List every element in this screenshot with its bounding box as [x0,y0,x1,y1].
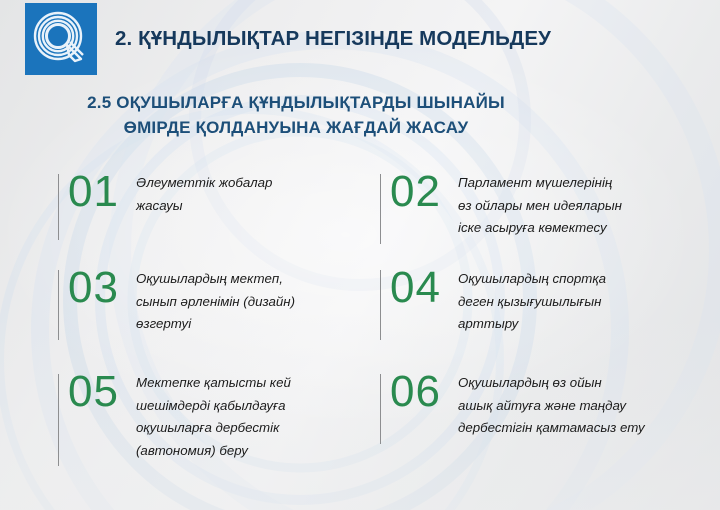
item-text: Әлеуметтік жобалар жасауы [136,168,368,217]
item-text-line: сынып әрленімін (дизайн) [136,291,368,314]
list-item: 02 Парламент мүшелерінің өз ойлары мен и… [380,168,702,244]
item-text: Мектепке қатысты кей шешімдерді қабылдау… [136,368,368,462]
item-text-line: іске асыруға көмектесу [458,217,702,240]
item-text-line: Әлеуметтік жобалар [136,172,368,195]
item-number: 06 [390,370,458,414]
item-divider [58,270,59,340]
slide-header: 2. ҚҰНДЫЛЫҚТАР НЕГІЗІНДЕ МОДЕЛЬДЕУ [0,0,720,80]
item-text-line: өз ойлары мен идеяларын [458,195,702,218]
item-divider [380,374,381,444]
list-item: 01 Әлеуметтік жобалар жасауы [58,168,368,240]
item-divider [380,270,381,340]
item-text-line: жасауы [136,195,368,218]
item-text-line: Оқушылардың спортқа [458,268,702,291]
list-item: 05 Мектепке қатысты кей шешімдерді қабыл… [58,368,368,466]
subtitle-line-1: 2.5 ОҚУШЫЛАРҒА ҚҰНДЫЛЫҚТАРДЫ ШЫНАЙЫ [18,90,574,115]
magnifier-q-logo-icon [25,3,97,75]
item-text: Оқушылардың өз ойын ашық айтуға және таң… [458,368,702,440]
item-number: 05 [68,370,136,414]
item-text-line: Мектепке қатысты кей [136,372,368,395]
item-text-line: Оқушылардың мектеп, [136,268,368,291]
item-divider [380,174,381,244]
item-text-line: дербестігін қамтамасыз ету [458,417,702,440]
list-item: 06 Оқушылардың өз ойын ашық айтуға және … [380,368,702,444]
item-number: 04 [390,266,458,310]
item-number: 02 [390,170,458,214]
item-number: 01 [68,170,136,214]
item-number: 03 [68,266,136,310]
item-text-line: арттыру [458,313,702,336]
item-text: Оқушылардың спортқа деген қызығушылығын … [458,264,702,336]
item-text-line: шешімдерді қабылдауға [136,395,368,418]
logo-badge [25,3,97,75]
list-item: 03 Оқушылардың мектеп, сынып әрленімін (… [58,264,368,340]
slide-canvas: 2. ҚҰНДЫЛЫҚТАР НЕГІЗІНДЕ МОДЕЛЬДЕУ 2.5 О… [0,0,720,510]
item-text-line: Оқушылардың өз ойын [458,372,702,395]
item-text-line: оқушыларға дербестік [136,417,368,440]
item-text-line: (автономия) беру [136,440,368,463]
item-text-line: деген қызығушылығын [458,291,702,314]
subtitle-line-2: ӨМІРДЕ ҚОЛДАНУЫНА ЖАҒДАЙ ЖАСАУ [18,115,574,140]
page-title: 2. ҚҰНДЫЛЫҚТАР НЕГІЗІНДЕ МОДЕЛЬДЕУ [115,25,705,53]
item-divider [58,174,59,240]
item-text-line: ашық айтуға және таңдау [458,395,702,418]
slide-subtitle: 2.5 ОҚУШЫЛАРҒА ҚҰНДЫЛЫҚТАРДЫ ШЫНАЙЫ ӨМІР… [18,90,574,140]
item-text-line: Парламент мүшелерінің [458,172,702,195]
item-text-line: өзгертуі [136,313,368,336]
item-text: Оқушылардың мектеп, сынып әрленімін (диз… [136,264,368,336]
list-item: 04 Оқушылардың спортқа деген қызығушылығ… [380,264,702,340]
item-text: Парламент мүшелерінің өз ойлары мен идея… [458,168,702,240]
item-divider [58,374,59,466]
items-grid: 01 Әлеуметтік жобалар жасауы 02 Парламен… [0,160,720,490]
